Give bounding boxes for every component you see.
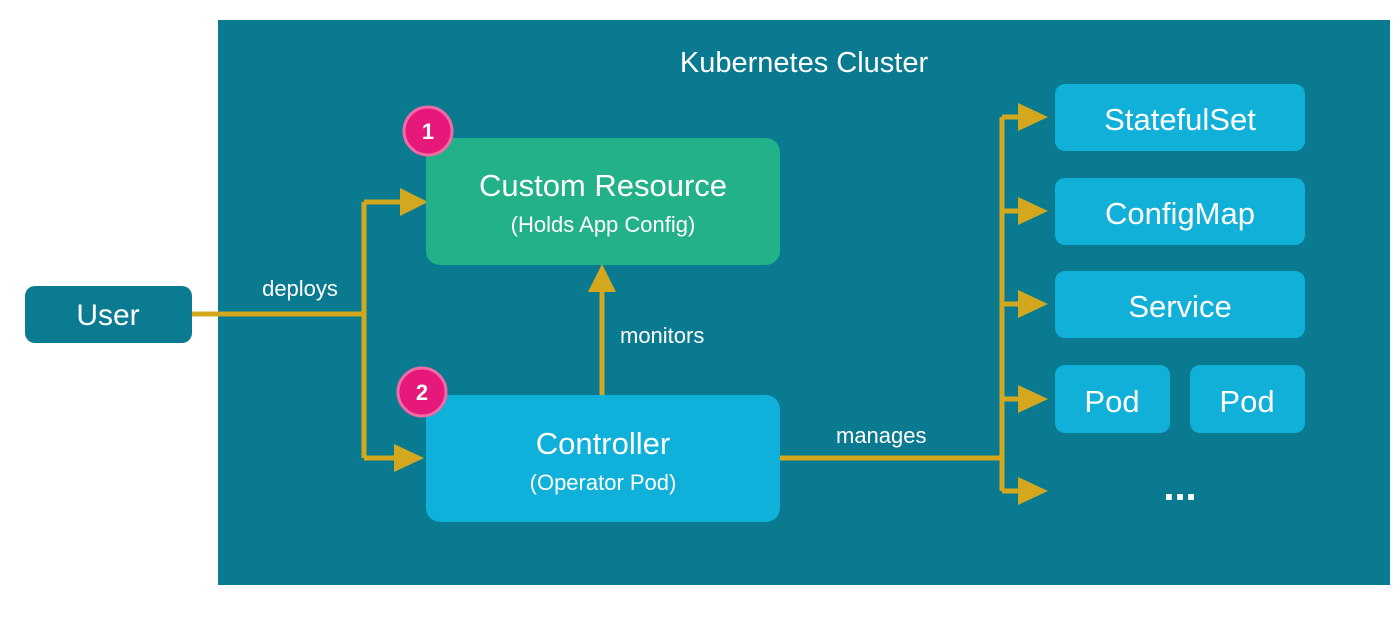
more-resources-ellipsis: ... <box>1163 465 1196 509</box>
edge-label-monitors: monitors <box>620 323 704 348</box>
diagram-root: Kubernetes Cluster deploys monitors <box>0 0 1400 617</box>
node-pod-1[interactable]: Pod <box>1055 365 1170 433</box>
configmap-label: ConfigMap <box>1105 196 1255 231</box>
node-configmap[interactable]: ConfigMap <box>1055 178 1305 245</box>
service-label: Service <box>1128 289 1231 324</box>
user-label: User <box>76 299 139 332</box>
node-pod-2[interactable]: Pod <box>1190 365 1305 433</box>
node-service[interactable]: Service <box>1055 271 1305 338</box>
badge-2-label: 2 <box>416 380 428 405</box>
controller-title: Controller <box>536 426 670 461</box>
badge-step-2: 2 <box>398 368 446 416</box>
node-user[interactable]: User <box>25 286 192 343</box>
kubernetes-operator-diagram: Kubernetes Cluster deploys monitors <box>0 0 1400 617</box>
node-controller[interactable]: Controller (Operator Pod) <box>426 395 780 522</box>
badge-1-label: 1 <box>422 119 434 144</box>
edge-label-manages: manages <box>836 423 927 448</box>
pod-2-label: Pod <box>1219 384 1274 419</box>
statefulset-label: StatefulSet <box>1104 102 1256 137</box>
custom-resource-title: Custom Resource <box>479 168 727 203</box>
cluster-title: Kubernetes Cluster <box>680 47 929 79</box>
node-statefulset[interactable]: StatefulSet <box>1055 84 1305 151</box>
badge-step-1: 1 <box>404 107 452 155</box>
node-custom-resource[interactable]: Custom Resource (Holds App Config) <box>426 138 780 265</box>
edge-label-deploys: deploys <box>262 276 338 301</box>
pod-1-label: Pod <box>1084 384 1139 419</box>
custom-resource-subtitle: (Holds App Config) <box>511 212 696 237</box>
controller-subtitle: (Operator Pod) <box>530 470 677 495</box>
